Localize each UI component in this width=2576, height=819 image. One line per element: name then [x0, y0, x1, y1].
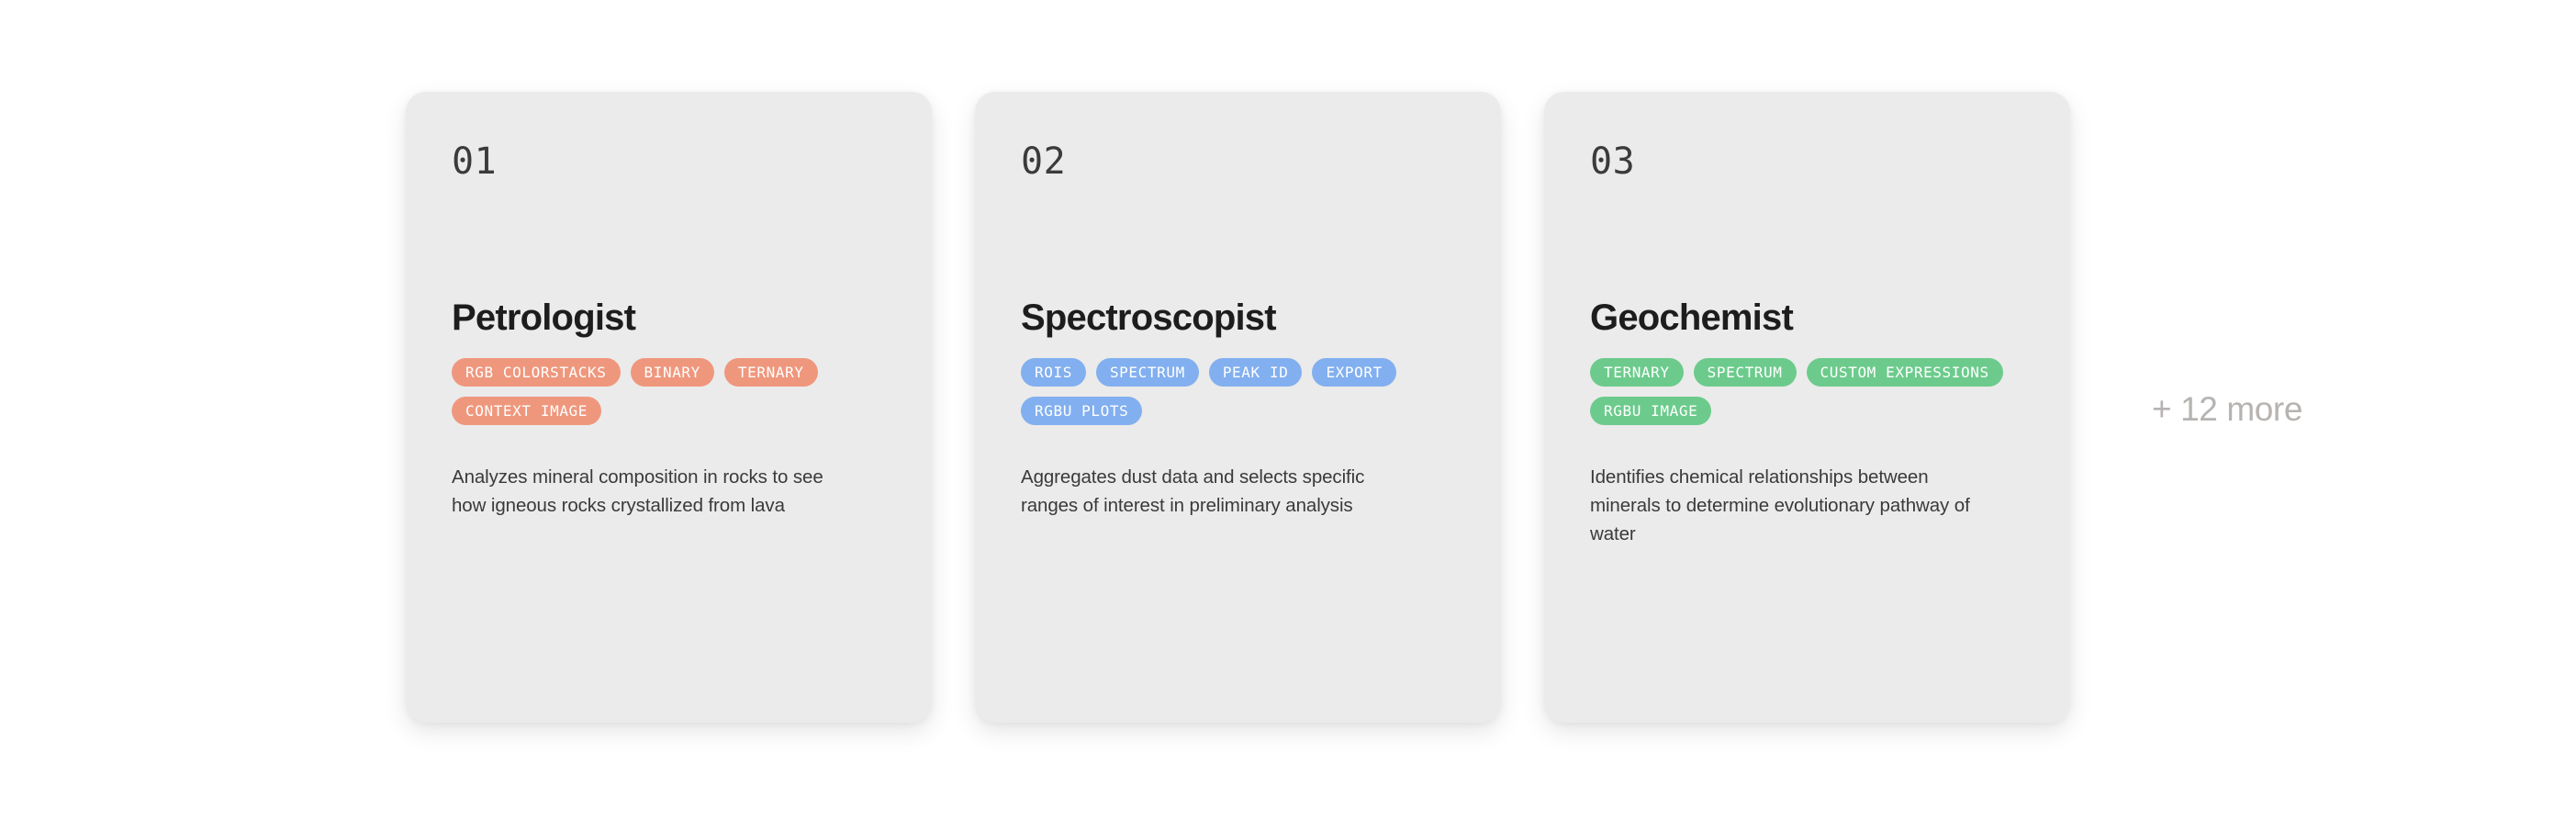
card-tag-list: TERNARYSPECTRUMCUSTOM EXPRESSIONSRGBU IM…	[1590, 358, 2024, 425]
card-number: 02	[1021, 143, 1455, 184]
tag-chip[interactable]: CUSTOM EXPRESSIONS	[1807, 358, 2003, 387]
persona-card-list: 01 Petrologist RGB COLORSTACKSBINARYTERN…	[406, 92, 2070, 723]
tag-chip[interactable]: TERNARY	[724, 358, 818, 387]
persona-card-geochemist[interactable]: 03 Geochemist TERNARYSPECTRUMCUSTOM EXPR…	[1544, 92, 2070, 723]
more-personas-label[interactable]: + 12 more	[2152, 390, 2302, 429]
persona-card-petrologist[interactable]: 01 Petrologist RGB COLORSTACKSBINARYTERN…	[406, 92, 932, 723]
tag-chip[interactable]: TERNARY	[1590, 358, 1684, 387]
card-title: Spectroscopist	[1021, 298, 1455, 338]
card-number: 01	[452, 143, 886, 184]
card-description: Analyzes mineral composition in rocks to…	[452, 463, 846, 520]
persona-cards-stage: 01 Petrologist RGB COLORSTACKSBINARYTERN…	[0, 0, 2576, 819]
card-body: Petrologist RGB COLORSTACKSBINARYTERNARY…	[452, 298, 886, 520]
card-title: Petrologist	[452, 298, 886, 338]
tag-chip[interactable]: RGBU PLOTS	[1021, 397, 1142, 425]
tag-chip[interactable]: SPECTRUM	[1694, 358, 1797, 387]
tag-chip[interactable]: BINARY	[631, 358, 714, 387]
tag-chip[interactable]: EXPORT	[1312, 358, 1395, 387]
tag-chip[interactable]: CONTEXT IMAGE	[452, 397, 601, 425]
card-tag-list: ROISSPECTRUMPEAK IDEXPORTRGBU PLOTS	[1021, 358, 1455, 425]
card-description: Aggregates dust data and selects specifi…	[1021, 463, 1416, 520]
persona-card-spectroscopist[interactable]: 02 Spectroscopist ROISSPECTRUMPEAK IDEXP…	[975, 92, 1501, 723]
tag-chip[interactable]: RGBU IMAGE	[1590, 397, 1711, 425]
card-description: Identifies chemical relationships betwee…	[1590, 463, 1985, 548]
tag-chip[interactable]: PEAK ID	[1209, 358, 1303, 387]
tag-chip[interactable]: RGB COLORSTACKS	[452, 358, 621, 387]
card-body: Spectroscopist ROISSPECTRUMPEAK IDEXPORT…	[1021, 298, 1455, 520]
card-tag-list: RGB COLORSTACKSBINARYTERNARYCONTEXT IMAG…	[452, 358, 886, 425]
card-body: Geochemist TERNARYSPECTRUMCUSTOM EXPRESS…	[1590, 298, 2024, 548]
card-number: 03	[1590, 143, 2024, 184]
tag-chip[interactable]: SPECTRUM	[1096, 358, 1199, 387]
tag-chip[interactable]: ROIS	[1021, 358, 1086, 387]
card-title: Geochemist	[1590, 298, 2024, 338]
